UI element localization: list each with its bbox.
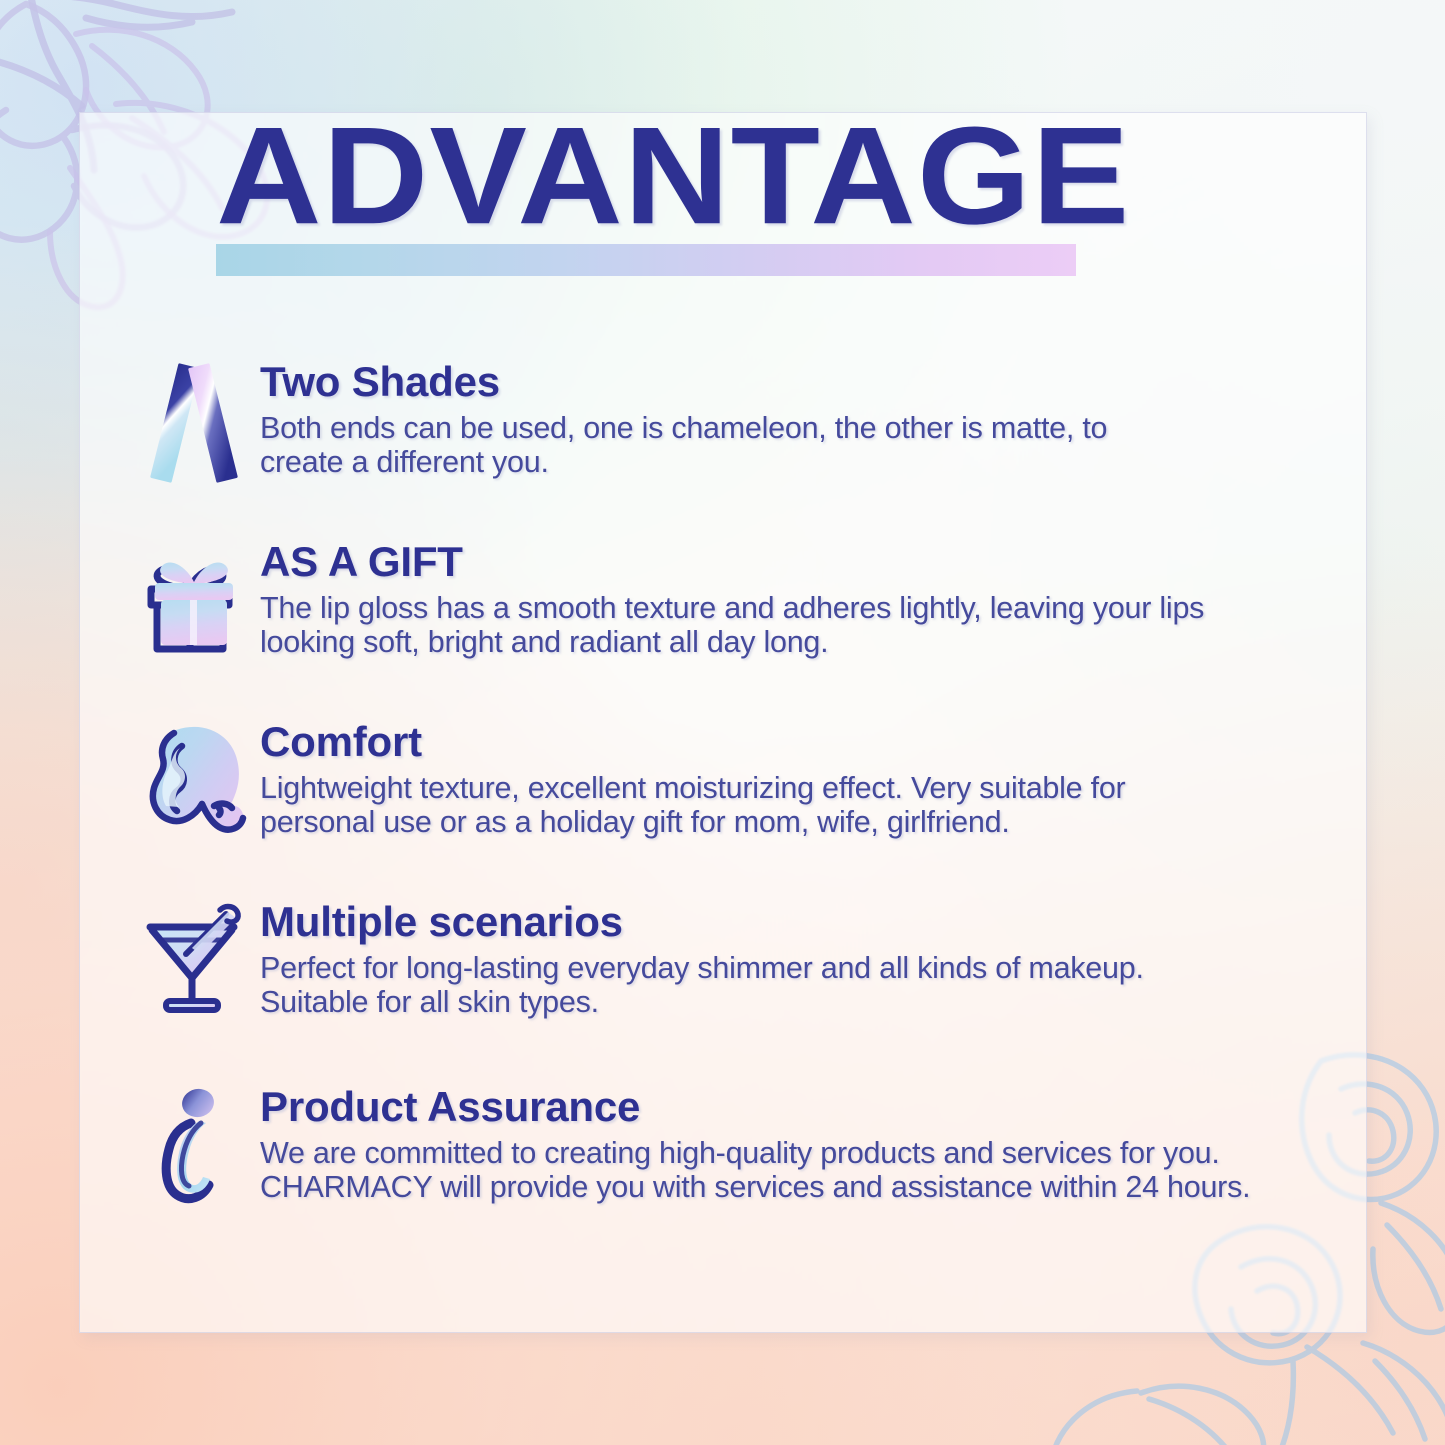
feature-item-two-shades: Two Shades Both ends can be used, one is… <box>128 356 1358 536</box>
page-title: ADVANTAGE <box>216 66 1260 286</box>
feature-title: Comfort <box>260 718 1358 766</box>
feature-text-as-a-gift: AS A GIFT The lip gloss has a smooth tex… <box>260 536 1358 659</box>
feature-text-comfort: Comfort Lightweight texture, excellent m… <box>260 716 1358 839</box>
woman-profile-icon <box>128 716 260 834</box>
feature-description: Perfect for long-lasting everyday shimme… <box>260 951 1358 1019</box>
feature-item-product-assurance: Product Assurance We are committed to cr… <box>128 1081 1358 1251</box>
feature-text-two-shades: Two Shades Both ends can be used, one is… <box>260 356 1358 479</box>
page-title-block: ADVANTAGE <box>216 76 1116 286</box>
crossed-lipstick-icon <box>128 356 260 474</box>
cocktail-glass-icon <box>128 896 260 1014</box>
feature-item-as-a-gift: AS A GIFT The lip gloss has a smooth tex… <box>128 536 1358 716</box>
gift-box-icon <box>128 536 260 654</box>
feature-item-multiple-scenarios: Multiple scenarios Perfect for long-last… <box>128 896 1358 1081</box>
feature-title: AS A GIFT <box>260 538 1358 586</box>
feature-title: Multiple scenarios <box>260 898 1358 946</box>
feature-description: Both ends can be used, one is chameleon,… <box>260 411 1358 479</box>
feature-text-multiple-scenarios: Multiple scenarios Perfect for long-last… <box>260 896 1358 1019</box>
info-italic-i-icon <box>128 1081 260 1199</box>
feature-description: We are committed to creating high-qualit… <box>260 1136 1358 1204</box>
feature-description: Lightweight texture, excellent moisturiz… <box>260 771 1358 839</box>
feature-title: Product Assurance <box>260 1083 1358 1131</box>
feature-title: Two Shades <box>260 358 1358 406</box>
feature-text-product-assurance: Product Assurance We are committed to cr… <box>260 1081 1358 1204</box>
feature-description: The lip gloss has a smooth texture and a… <box>260 591 1358 659</box>
feature-list: Two Shades Both ends can be used, one is… <box>128 356 1358 1251</box>
feature-item-comfort: Comfort Lightweight texture, excellent m… <box>128 716 1358 896</box>
